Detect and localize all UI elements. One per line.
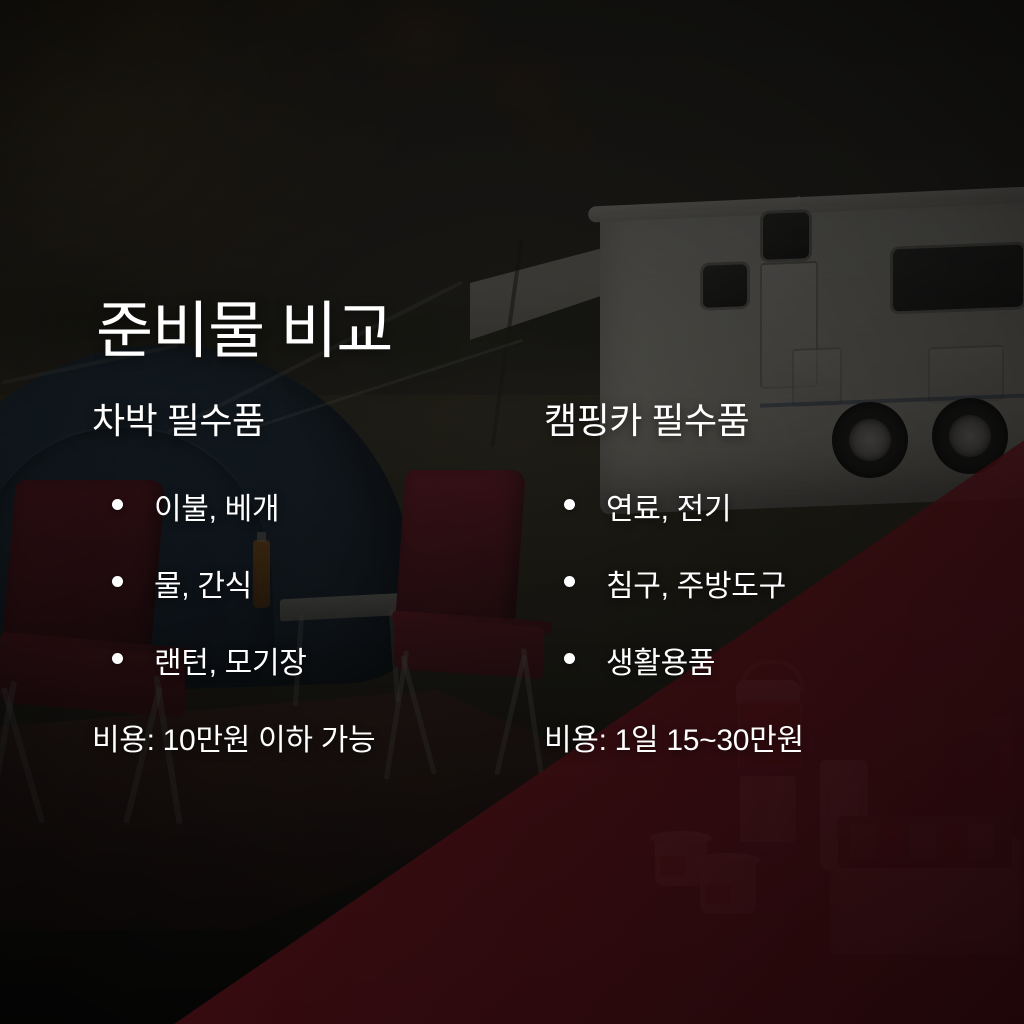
column-heading-campingcar: 캠핑카 필수품	[544, 392, 1004, 444]
bullet-dot-icon	[564, 576, 575, 587]
bullet-dot-icon	[112, 653, 123, 664]
list-item-label: 물, 간식	[154, 570, 252, 603]
bullet-list-campingcar: 연료, 전기 침구, 주방도구 생활용품	[544, 484, 1004, 682]
bullet-dot-icon	[564, 653, 575, 664]
bullet-dot-icon	[112, 576, 123, 587]
list-item: 물, 간식	[92, 561, 552, 605]
list-item: 생활용품	[544, 638, 1004, 682]
bullet-dot-icon	[112, 499, 123, 510]
bullet-list-chabak: 이불, 베개 물, 간식 랜턴, 모기장	[92, 484, 552, 682]
bullet-dot-icon	[564, 499, 575, 510]
column-chabak: 차박 필수품 이불, 베개 물, 간식 랜턴, 모기장 비용: 1	[92, 392, 552, 759]
list-item-label: 연료, 전기	[606, 493, 731, 526]
column-campingcar: 캠핑카 필수품 연료, 전기 침구, 주방도구 생활용품 비용:	[544, 392, 1004, 759]
column-heading-chabak: 차박 필수품	[92, 392, 552, 444]
list-item: 연료, 전기	[544, 484, 1004, 528]
list-item-label: 이불, 베개	[154, 493, 279, 526]
cost-note-campingcar: 비용: 1일 15~30만원	[544, 715, 1004, 759]
slide-content: 준비물 비교 차박 필수품 이불, 베개 물, 간식 랜턴, 모	[0, 0, 1024, 1024]
list-item: 침구, 주방도구	[544, 561, 1004, 605]
list-item: 랜턴, 모기장	[92, 638, 552, 682]
comparison-columns: 차박 필수품 이불, 베개 물, 간식 랜턴, 모기장 비용: 1	[0, 392, 1024, 759]
list-item-label: 랜턴, 모기장	[154, 647, 307, 680]
slide-canvas: 준비물 비교 차박 필수품 이불, 베개 물, 간식 랜턴, 모	[0, 0, 1024, 1024]
list-item-label: 침구, 주방도구	[606, 570, 786, 603]
list-item: 이불, 베개	[92, 484, 552, 528]
cost-note-chabak: 비용: 10만원 이하 가능	[92, 715, 552, 759]
page-title: 준비물 비교	[96, 280, 392, 370]
list-item-label: 생활용품	[606, 647, 715, 680]
